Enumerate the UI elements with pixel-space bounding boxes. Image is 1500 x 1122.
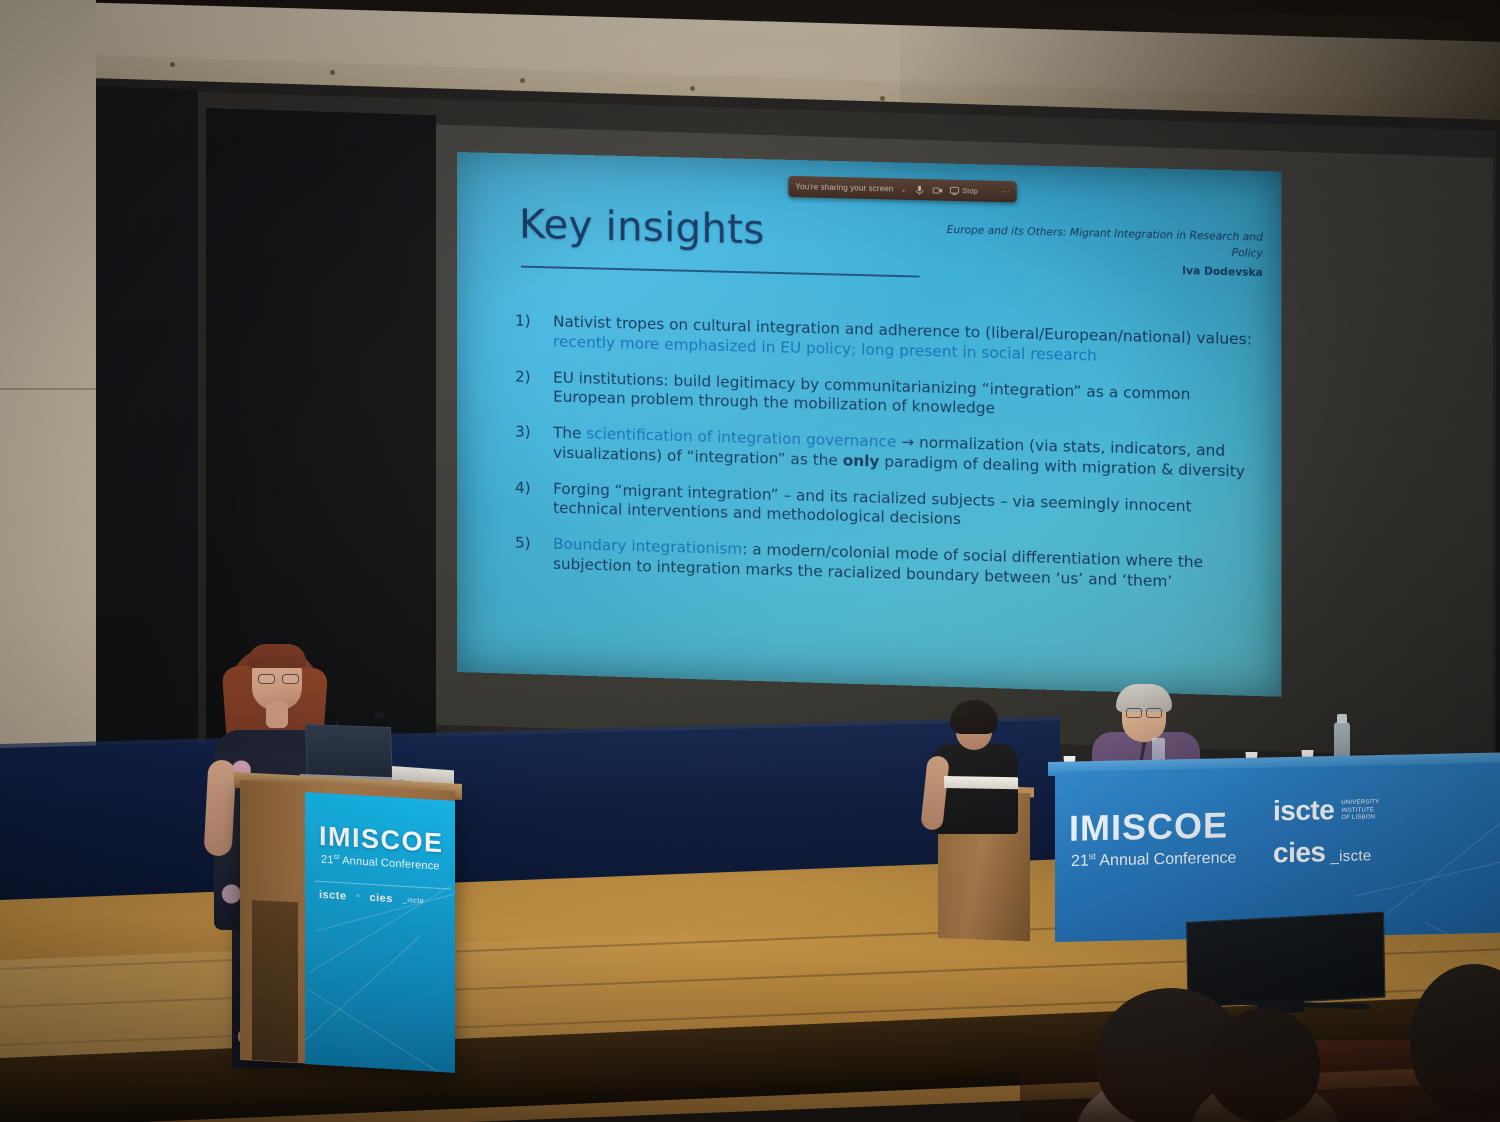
slide-canvas: Key insights Europe and its Others: Migr…	[457, 152, 1281, 697]
slide-bullet-number: 3)	[515, 423, 541, 463]
panel-table-banner: IMISCOE 21st Annual Conference iscte UNI…	[1055, 763, 1500, 942]
slide-bullet: 4)Forging “migrant integration” – and it…	[515, 478, 1259, 538]
iscte-wordmark: iscte	[319, 889, 347, 903]
speaker-neck	[266, 702, 288, 728]
ceiling-fixture-dot	[690, 86, 695, 91]
podium-leg	[252, 900, 298, 1062]
ceiling-fixture-dot	[880, 96, 885, 101]
camera-icon[interactable]	[932, 184, 943, 195]
slide-bullet-text: Boundary integrationism: a modern/coloni…	[553, 535, 1259, 595]
wall-seam	[0, 388, 96, 390]
slide-bullet-run: EU institutions: build legitimacy by com…	[553, 368, 1190, 418]
slide-title: Key insights	[519, 201, 765, 253]
conference-label: Annual Conference	[1096, 850, 1237, 870]
slide-bullet-run: Forging “migrant integration” – and its …	[553, 479, 1192, 528]
podium-banner: IMISCOE 21st Annual Conference iscte ≡ c…	[305, 792, 455, 1073]
cies-logo: cies _iscte	[1273, 835, 1372, 869]
glasses-icon	[1126, 708, 1162, 716]
conference-ordinal: st	[1089, 851, 1096, 861]
slide-bullet: 2)EU institutions: build legitimacy by c…	[515, 367, 1259, 426]
speaker-fringe	[248, 644, 306, 668]
slide-bullet-text: The scientification of integration gover…	[553, 424, 1259, 483]
slide-bullet-text: Nativist tropes on cultural integration …	[553, 312, 1259, 370]
stop-label: Stop	[962, 186, 978, 195]
slide-bullet-list: 1)Nativist tropes on cultural integratio…	[515, 311, 1259, 610]
glasses-icon	[258, 674, 298, 683]
stop-sharing-button[interactable]: Stop	[950, 186, 978, 196]
ceiling-fixture-dot	[170, 62, 175, 67]
slide-bullet-text: Forging “migrant integration” – and its …	[553, 479, 1259, 538]
backdrop-panel-left	[88, 86, 198, 779]
speaker-arm	[204, 759, 237, 856]
microphone-head	[374, 712, 385, 719]
cies-wordmark: cies	[370, 892, 393, 905]
iscte-mark-icon: ≡	[357, 894, 360, 900]
iscte-logo: iscte UNIVERSITY INSTITUTE OF LISBON	[1273, 793, 1379, 827]
slide-header-line: Europe and its Others: Migrant Integrati…	[947, 224, 1263, 260]
overflow-menu-icon[interactable]: ⋯	[1002, 187, 1010, 196]
slide-bullet-text: EU institutions: build legitimacy by com…	[553, 368, 1259, 426]
slide-bullet-number: 4)	[515, 478, 541, 518]
panel-papers	[944, 776, 1018, 789]
cies-suffix: _iscte	[1331, 847, 1372, 865]
table-banner-subtitle: 21st Annual Conference	[1071, 848, 1236, 871]
ceiling-fixture-dot	[330, 70, 335, 75]
audience-head	[1208, 1008, 1320, 1122]
screen-dark-border	[206, 108, 436, 755]
stage-monitor	[1186, 912, 1385, 1008]
table-banner-title: IMISCOE	[1069, 804, 1228, 849]
conference-number: 21	[1071, 853, 1089, 870]
slide-author: Iva Dodevska	[928, 256, 1263, 281]
iscte-wordmark: iscte	[1273, 794, 1334, 827]
cies-wordmark: cies	[1273, 836, 1326, 869]
podium-banner-divider	[315, 881, 451, 890]
chevron-down-icon[interactable]: ⌄	[901, 185, 907, 193]
slide-bullet-number: 1)	[515, 311, 541, 351]
slide-bullet: 1)Nativist tropes on cultural integratio…	[515, 311, 1259, 370]
cies-suffix: _iscte	[403, 896, 424, 904]
slide-bullet-number: 5)	[515, 534, 541, 574]
slide-bullet-number: 2)	[515, 367, 541, 407]
projected-slide: Key insights Europe and its Others: Migr…	[457, 152, 1281, 697]
microphone-icon[interactable]	[914, 184, 925, 195]
podium-banner-logos: iscte ≡ cies _iscte	[319, 889, 449, 909]
slide-title-underline	[521, 266, 920, 278]
photograph-scene: Key insights Europe and its Others: Migr…	[0, 0, 1500, 1122]
slide-bullet: 3)The scientification of integration gov…	[515, 423, 1259, 483]
share-status-text: You're sharing your screen	[795, 182, 893, 193]
slide-bullet-run: The	[553, 424, 586, 443]
slide-bullet-run: only	[843, 451, 880, 470]
ceiling-fixture-dot	[520, 78, 525, 83]
slide-bullet: 5)Boundary integrationism: a modern/colo…	[515, 534, 1259, 595]
slide-header-meta: Europe and its Others: Migrant Integrati…	[928, 221, 1263, 280]
iscte-tagline: UNIVERSITY INSTITUTE OF LISBON	[1341, 793, 1379, 822]
